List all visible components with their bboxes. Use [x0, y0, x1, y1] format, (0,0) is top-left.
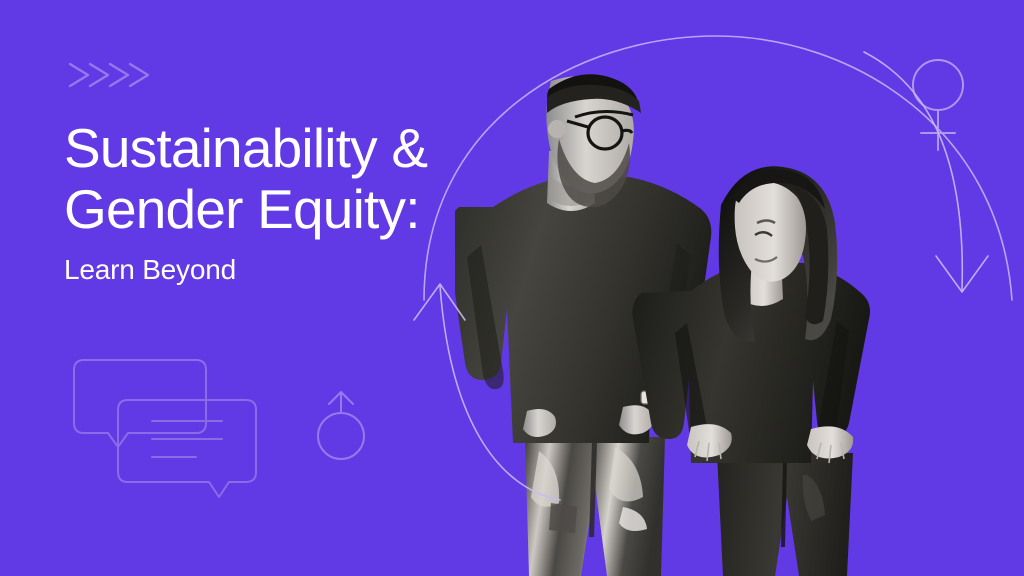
mars-arrowhead: [329, 392, 353, 404]
chat-bubble-back: [74, 360, 206, 447]
mars-circle: [318, 413, 364, 459]
chevron-right-arrows: [70, 64, 148, 86]
mars-gender-symbol: [318, 392, 364, 459]
page-title: Sustainability & Gender Equity:: [64, 118, 494, 240]
headline-block: Sustainability & Gender Equity: Learn Be…: [64, 118, 494, 286]
couple-photo: [455, 55, 925, 576]
couple-photo-illustration: [455, 55, 925, 576]
banner-slide: Sustainability & Gender Equity: Learn Be…: [0, 0, 1024, 576]
cycle-arrow-down-head: [936, 256, 988, 292]
chevron-right-icon: [90, 64, 108, 86]
chevron-right-icon: [130, 64, 148, 86]
chat-bubbles: [74, 360, 256, 497]
chevron-right-icon: [110, 64, 128, 86]
page-subtitle: Learn Beyond: [64, 254, 494, 286]
chat-bubble-front: [118, 400, 256, 497]
chevron-right-icon: [70, 64, 88, 86]
